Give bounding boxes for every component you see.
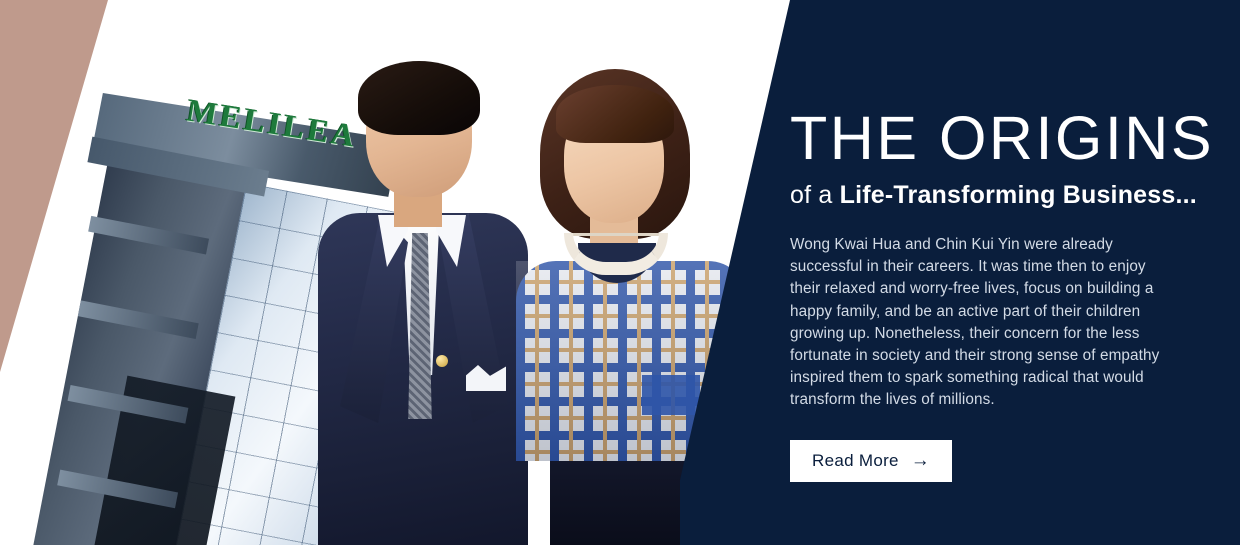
read-more-button[interactable]: Read More → xyxy=(790,440,952,482)
hero-body-text: Wong Kwai Hua and Chin Kui Yin were alre… xyxy=(790,234,1180,412)
female-jacket-pocket xyxy=(642,375,700,415)
hero-copy-block: THE ORIGINS of a Life-Transforming Busin… xyxy=(790,108,1190,482)
male-hair xyxy=(358,61,480,135)
page-subtitle-prefix: of a xyxy=(790,181,840,209)
male-lapel-pin xyxy=(436,355,448,367)
page-subtitle: of a Life-Transforming Business... xyxy=(790,181,1190,210)
hero-banner: MELILEA xyxy=(0,0,1240,545)
page-subtitle-strong: Life-Transforming Business... xyxy=(840,181,1197,209)
female-hair-front xyxy=(556,85,674,143)
hero-photo: MELILEA xyxy=(0,0,780,545)
arrow-right-icon: → xyxy=(911,451,930,470)
page-title: THE ORIGINS xyxy=(790,108,1190,169)
subject-photo-male xyxy=(318,65,528,545)
read-more-label: Read More xyxy=(812,451,899,471)
